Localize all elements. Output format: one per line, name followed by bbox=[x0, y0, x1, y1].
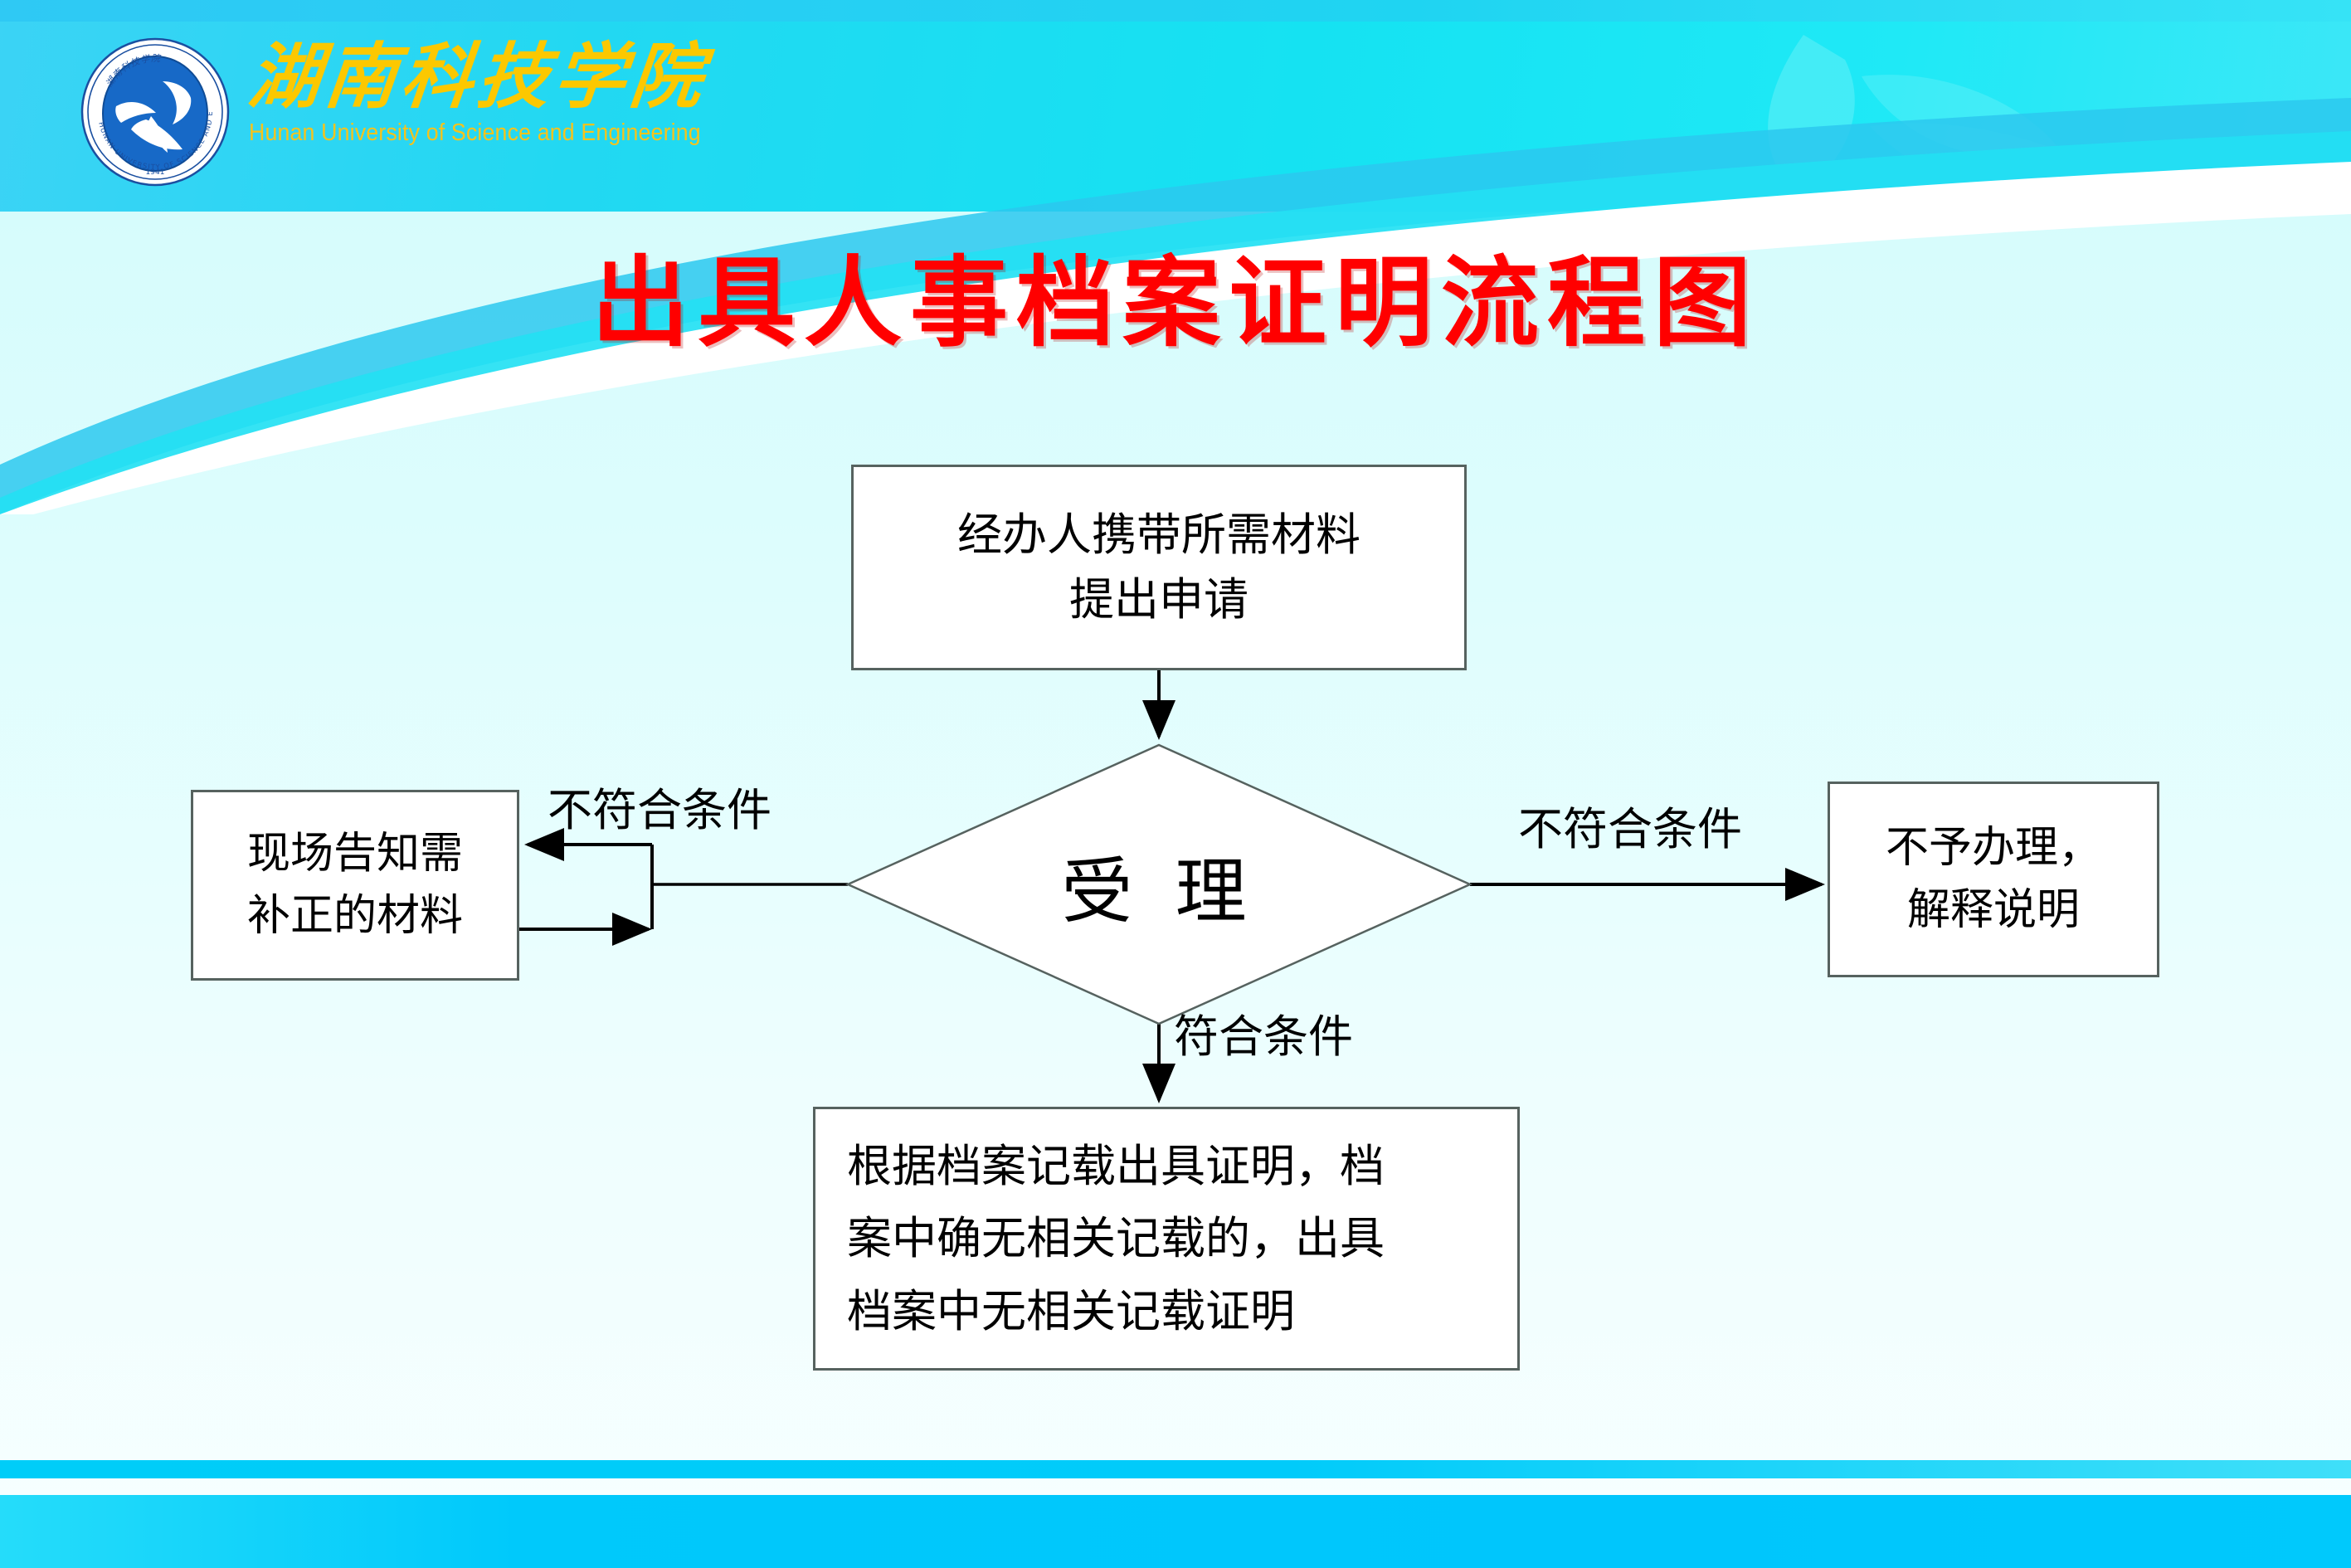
node-notify-supplement[interactable]: 现场告知需 补正的材料 bbox=[191, 790, 519, 981]
node-apply-line2: 提出申请 bbox=[1069, 567, 1249, 632]
university-logo: HUNAN UNIVERSITY OF SCIENCE AND ENGINEER… bbox=[80, 37, 740, 187]
edge-label-right-reject: 不符合条件 bbox=[1518, 792, 1742, 858]
node-apply-request[interactable]: 经办人携带所需材料 提出申请 bbox=[851, 465, 1467, 670]
footer-thin-stripe bbox=[0, 1460, 2351, 1478]
node-left-line1: 现场告知需 bbox=[247, 823, 463, 885]
page-title: 出具人事档案证明流程图 bbox=[0, 249, 2351, 357]
header-top-stripe bbox=[0, 0, 2351, 22]
node-issue-certificate[interactable]: 根据档案记载出具证明，档 案中确无相关记载的，出具 档案中无相关记载证明 bbox=[813, 1107, 1520, 1371]
edge-label-left-reject: 不符合条件 bbox=[548, 773, 771, 839]
svg-text:1941: 1941 bbox=[146, 168, 165, 177]
university-seal-icon: HUNAN UNIVERSITY OF SCIENCE AND ENGINEER… bbox=[80, 37, 231, 187]
node-bottom-line1: 根据档案记载出具证明，档 bbox=[847, 1130, 1385, 1202]
node-apply-line1: 经办人携带所需材料 bbox=[957, 503, 1360, 567]
edge-label-pass: 符合条件 bbox=[1174, 1000, 1353, 1065]
node-right-line2: 解释说明 bbox=[1907, 879, 2080, 942]
node-decision-accept[interactable]: 受 理 bbox=[848, 745, 1470, 1024]
node-reject-explain[interactable]: 不予办理， 解释说明 bbox=[1828, 782, 2159, 977]
node-decision-label: 受 理 bbox=[848, 745, 1470, 1024]
node-left-line2: 补正的材料 bbox=[247, 885, 463, 947]
logo-name-en: Hunan University of Science and Engineer… bbox=[249, 119, 701, 147]
footer-band bbox=[0, 1495, 2351, 1568]
leaf-motif-decoration bbox=[1596, 27, 2177, 212]
slide-canvas: HUNAN UNIVERSITY OF SCIENCE AND ENGINEER… bbox=[0, 0, 2351, 1568]
node-bottom-line2: 案中确无相关记载的，出具 bbox=[847, 1202, 1385, 1274]
logo-name-cn: 湖南科技学院 bbox=[245, 41, 743, 113]
node-bottom-line3: 档案中无相关记载证明 bbox=[847, 1275, 1295, 1347]
node-right-line1: 不予办理， bbox=[1886, 817, 2101, 879]
